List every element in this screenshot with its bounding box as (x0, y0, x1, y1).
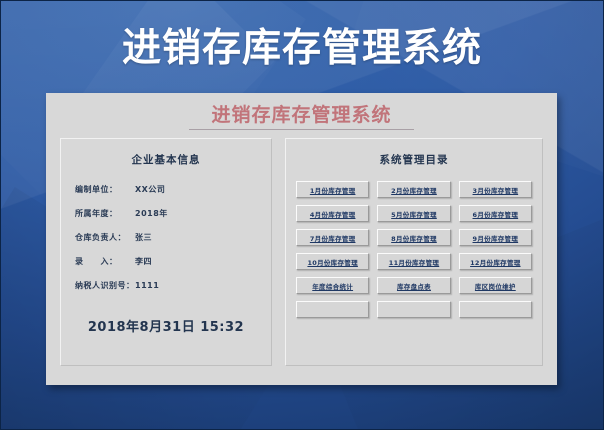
menu-button-label: 库区岗位维护 (475, 281, 516, 291)
menu-button-empty-1[interactable] (296, 301, 369, 318)
info-row: 纳税人识别号： 1111 (75, 280, 271, 304)
info-row: 仓库负责人： 张三 (75, 232, 271, 256)
menu-button-label: 库存盘点表 (397, 281, 431, 291)
menu-button-label: 8月份库存管理 (391, 233, 437, 243)
menu-button-label: 5月份库存管理 (391, 209, 437, 219)
system-menu-panel: 系统管理目录 1月份库存管理 2月份库存管理 3月份库存管理 4月份库存管理 5… (285, 138, 543, 366)
menu-button-month-12[interactable]: 12月份库存管理 (459, 253, 532, 270)
sheet-title: 进销存库存管理系统 (46, 103, 557, 130)
menu-button-label: 1月份库存管理 (310, 185, 356, 195)
sheet-title-text: 进销存库存管理系统 (189, 103, 413, 130)
menu-button-label: 年度综合统计 (312, 281, 353, 291)
info-label-taxpayer-id: 纳税人识别号： (75, 280, 135, 291)
menu-button-label: 6月份库存管理 (473, 209, 519, 219)
menu-button-inventory-count[interactable]: 库存盘点表 (377, 277, 450, 294)
menu-button-empty-3[interactable] (459, 301, 532, 318)
menu-button-label: 11月份库存管理 (389, 257, 439, 267)
menu-button-label: 12月份库存管理 (470, 257, 520, 267)
menu-button-label: 3月份库存管理 (473, 185, 519, 195)
content-card: 进销存库存管理系统 企业基本信息 编制单位： XX公司 所属年度： 2018年 … (46, 93, 557, 385)
page-title: 进销存库存管理系统 (1, 23, 603, 75)
panels-container: 企业基本信息 编制单位： XX公司 所属年度： 2018年 仓库负责人： 张三 (60, 138, 543, 366)
info-value-data-entry: 李四 (135, 256, 152, 267)
info-value-taxpayer-id: 1111 (135, 281, 159, 290)
menu-button-grid: 1月份库存管理 2月份库存管理 3月份库存管理 4月份库存管理 5月份库存管理 … (296, 181, 532, 318)
info-value-compiling-unit: XX公司 (135, 184, 165, 195)
company-info-panel: 企业基本信息 编制单位： XX公司 所属年度： 2018年 仓库负责人： 张三 (60, 138, 272, 366)
info-label-compiling-unit: 编制单位： (75, 184, 135, 195)
company-info-rows: 编制单位： XX公司 所属年度： 2018年 仓库负责人： 张三 录 入： 李四 (61, 184, 271, 304)
info-label-year: 所属年度： (75, 208, 135, 219)
menu-button-month-06[interactable]: 6月份库存管理 (459, 205, 532, 222)
menu-button-label: 7月份库存管理 (310, 233, 356, 243)
menu-button-month-08[interactable]: 8月份库存管理 (377, 229, 450, 246)
menu-button-month-01[interactable]: 1月份库存管理 (296, 181, 369, 198)
menu-button-month-04[interactable]: 4月份库存管理 (296, 205, 369, 222)
datetime-display: 2018年8月31日 15:32 (61, 316, 271, 335)
menu-button-label: 4月份库存管理 (310, 209, 356, 219)
menu-button-month-07[interactable]: 7月份库存管理 (296, 229, 369, 246)
info-row: 录 入： 李四 (75, 256, 271, 280)
menu-button-label: 2月份库存管理 (391, 185, 437, 195)
info-row: 编制单位： XX公司 (75, 184, 271, 208)
menu-button-empty-2[interactable] (377, 301, 450, 318)
system-menu-panel-title: 系统管理目录 (286, 152, 542, 167)
slide-canvas: 进销存库存管理系统 进销存库存管理系统 企业基本信息 编制单位： XX公司 所属… (0, 0, 604, 430)
menu-button-label: 9月份库存管理 (473, 233, 519, 243)
menu-button-month-03[interactable]: 3月份库存管理 (459, 181, 532, 198)
company-info-panel-title: 企业基本信息 (61, 152, 271, 167)
menu-button-month-09[interactable]: 9月份库存管理 (459, 229, 532, 246)
menu-button-zone-post-maintenance[interactable]: 库区岗位维护 (459, 277, 532, 294)
info-value-year: 2018年 (135, 208, 168, 219)
info-row: 所属年度： 2018年 (75, 208, 271, 232)
info-label-data-entry: 录 入： (75, 256, 135, 267)
menu-button-month-10[interactable]: 10月份库存管理 (296, 253, 369, 270)
menu-button-month-05[interactable]: 5月份库存管理 (377, 205, 450, 222)
menu-button-label: 10月份库存管理 (307, 257, 357, 267)
menu-button-month-02[interactable]: 2月份库存管理 (377, 181, 450, 198)
menu-button-month-11[interactable]: 11月份库存管理 (377, 253, 450, 270)
menu-button-annual-summary[interactable]: 年度综合统计 (296, 277, 369, 294)
info-label-warehouse-manager: 仓库负责人： (75, 232, 135, 243)
info-value-warehouse-manager: 张三 (135, 232, 152, 243)
